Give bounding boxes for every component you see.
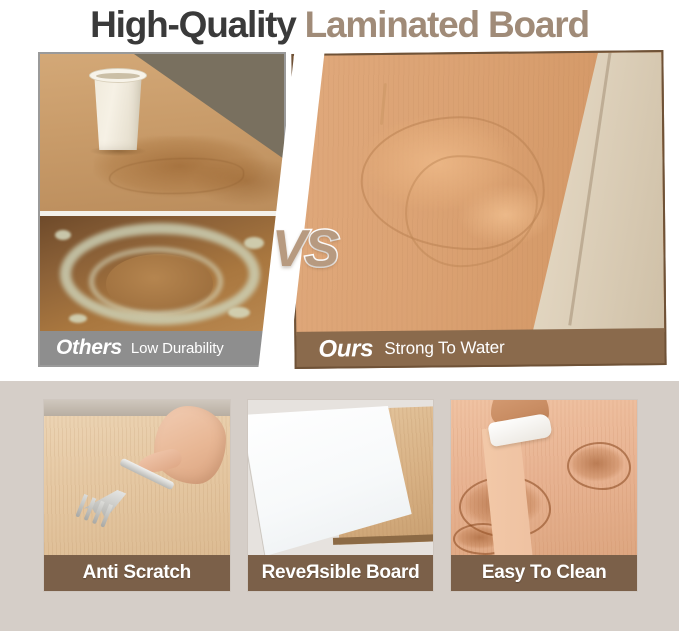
features-section: Anti Scratch ReveЯsible Board bbox=[0, 381, 679, 631]
reversible-board-caption: ReveЯsible Board bbox=[262, 562, 420, 584]
others-mold-photo bbox=[40, 216, 284, 335]
anti-scratch-caption-bar: Anti Scratch bbox=[44, 555, 230, 591]
paper-cup-rim bbox=[89, 68, 147, 83]
easy-to-clean-photo bbox=[451, 400, 637, 557]
feature-card-anti-scratch: Anti Scratch bbox=[43, 399, 231, 592]
ours-claim-label: Strong To Water bbox=[384, 337, 505, 358]
paper-cup bbox=[92, 72, 144, 150]
product-infographic: High-Quality Laminated Board bbox=[0, 0, 679, 631]
others-name-label: Others bbox=[56, 336, 122, 360]
anti-scratch-caption: Anti Scratch bbox=[83, 562, 191, 584]
mold-speck bbox=[244, 237, 264, 249]
title-secondary-text: Laminated Board bbox=[305, 6, 589, 43]
ours-name-label: Ours bbox=[318, 335, 373, 364]
others-claim-label: Low Durability bbox=[131, 340, 224, 357]
page-title: High-Quality Laminated Board bbox=[0, 2, 679, 46]
others-panel: Others Low Durability bbox=[38, 52, 286, 367]
anti-scratch-photo bbox=[44, 400, 230, 557]
mold-speck bbox=[55, 230, 71, 240]
reversible-board-caption-bar: ReveЯsible Board bbox=[248, 555, 434, 591]
feature-card-reversible-board: ReveЯsible Board bbox=[247, 399, 435, 592]
ours-label-bar: Ours Strong To Water bbox=[296, 328, 664, 367]
hand bbox=[154, 406, 226, 484]
vs-badge: VS bbox=[272, 223, 337, 275]
mold-speck bbox=[69, 314, 87, 323]
feature-card-row: Anti Scratch ReveЯsible Board bbox=[43, 399, 638, 614]
ours-water-photo bbox=[293, 52, 664, 336]
easy-to-clean-caption: Easy To Clean bbox=[482, 562, 607, 584]
ours-panel: Ours Strong To Water bbox=[291, 50, 666, 369]
mold-speck bbox=[228, 307, 250, 318]
feature-card-easy-to-clean: Easy To Clean bbox=[450, 399, 638, 592]
others-spill-photo bbox=[40, 54, 284, 211]
liquid-stain bbox=[567, 442, 631, 490]
others-label-bar: Others Low Durability bbox=[40, 331, 284, 365]
title-primary-text: High-Quality bbox=[90, 6, 296, 43]
easy-to-clean-caption-bar: Easy To Clean bbox=[451, 555, 637, 591]
comparison-section: Others Low Durability Ours Strong To Wat… bbox=[0, 48, 679, 373]
mold-ring-inner bbox=[89, 247, 223, 316]
reversible-board-photo bbox=[248, 400, 434, 557]
